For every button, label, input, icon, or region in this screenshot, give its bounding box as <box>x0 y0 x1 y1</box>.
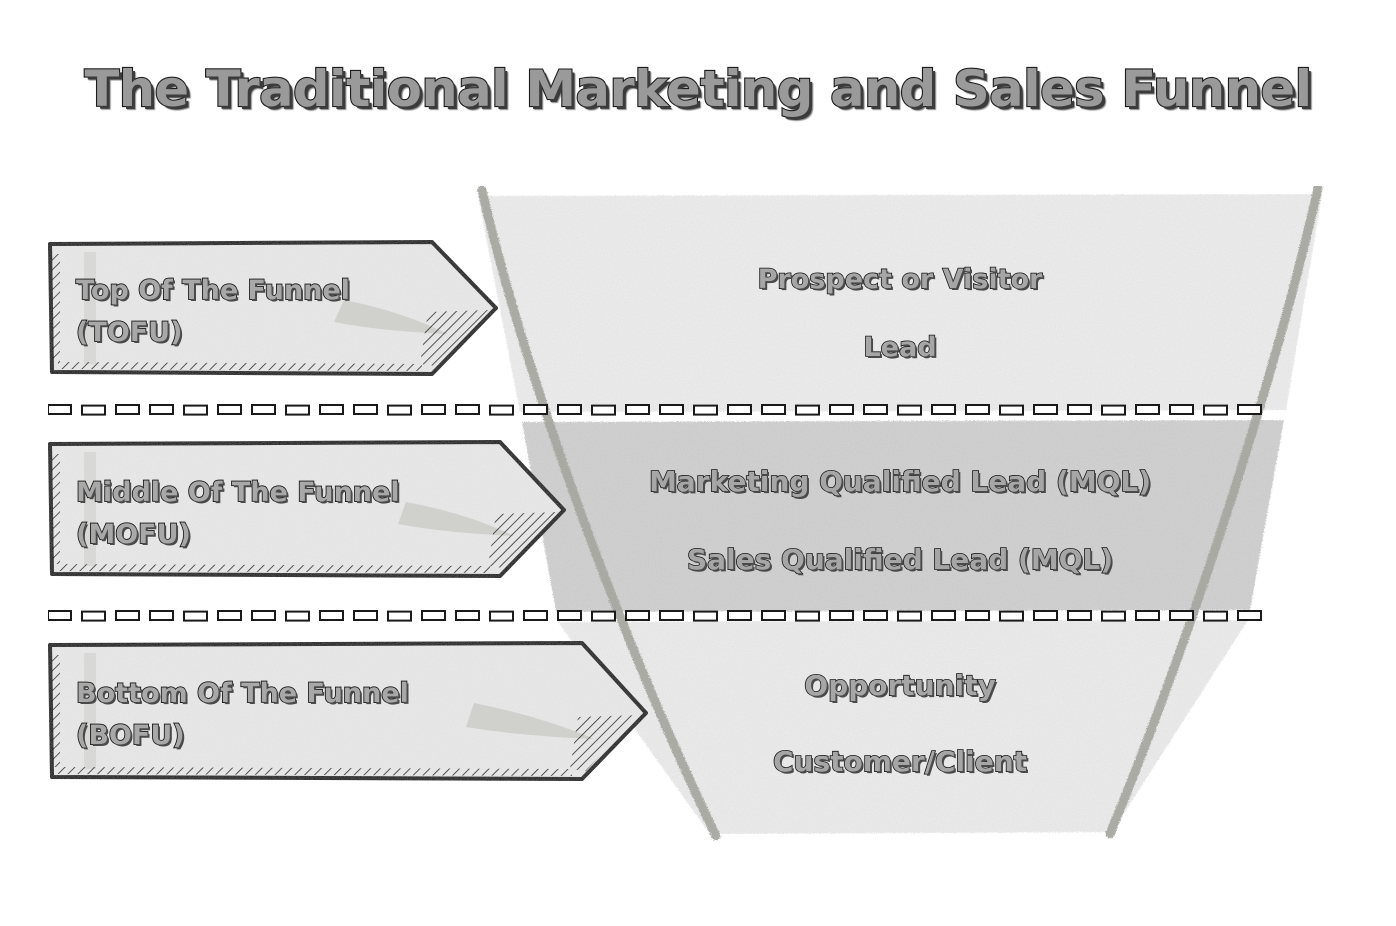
stage-banner-tofu-text: Top Of The Funnel (TOFU) <box>76 270 350 354</box>
divider-dash <box>490 406 513 415</box>
divider-dash <box>82 612 105 621</box>
divider-dash <box>1170 611 1193 620</box>
divider-dash <box>830 611 853 620</box>
funnel-label-marketing-qualified-lead: Marketing Qualified Lead (MQL) <box>460 465 1340 498</box>
divider-dash <box>966 611 989 620</box>
stage-banner-mofu[interactable]: Middle Of The Funnel (MOFU) <box>44 438 574 582</box>
funnel-label-prospect-or-visitor: Prospect or Visitor <box>460 264 1340 295</box>
stage-banner-mofu-line1: Middle Of The Funnel <box>76 472 400 514</box>
divider-dash <box>218 405 241 414</box>
funnel-label-sales-qualified-lead: Sales Qualified Lead (MQL) <box>460 543 1340 576</box>
divider-dash <box>864 611 887 620</box>
page-title: The Traditional Marketing and Sales Funn… <box>0 60 1396 118</box>
divider-dash <box>558 405 581 414</box>
divider-dash <box>932 405 955 414</box>
divider-dash <box>626 611 649 620</box>
divider-dash <box>898 406 921 415</box>
divider-dash <box>898 612 921 621</box>
funnel-label-lead: Lead <box>460 332 1340 363</box>
funnel-section-mofu <box>522 420 1284 612</box>
divider-dash <box>796 406 819 415</box>
divider-dashes-svg <box>48 404 1270 416</box>
divider-dash <box>1000 406 1023 415</box>
divider-dash <box>1102 406 1125 415</box>
divider-dash <box>660 611 683 620</box>
divider-dash <box>524 405 547 414</box>
divider-dash <box>354 405 377 414</box>
divider-dash <box>286 406 309 415</box>
divider-dash <box>150 611 173 620</box>
divider-dash <box>1034 611 1057 620</box>
stage-banner-bofu-line1: Bottom Of The Funnel <box>76 673 409 715</box>
divider-dash <box>694 406 717 415</box>
divider-dash <box>1170 405 1193 414</box>
divider-dash <box>320 405 343 414</box>
divider-dash <box>1238 611 1261 620</box>
divider-dash <box>1204 612 1227 621</box>
stage-banner-bofu-line2: (BOFU) <box>76 715 409 757</box>
stage-banner-tofu[interactable]: Top Of The Funnel (TOFU) <box>44 238 506 380</box>
divider-dash <box>286 612 309 621</box>
divider-dash <box>490 612 513 621</box>
divider-dash <box>116 405 139 414</box>
divider-dash <box>932 611 955 620</box>
divider-dash <box>1068 405 1091 414</box>
stage-banner-mofu-line2: (MOFU) <box>76 514 400 556</box>
divider-dash <box>762 611 785 620</box>
divider-dash <box>218 611 241 620</box>
divider-dash <box>354 611 377 620</box>
divider-dash <box>1204 406 1227 415</box>
divider-mofu-bofu <box>48 609 1270 621</box>
divider-dash <box>1238 405 1261 414</box>
divider-dash <box>456 405 479 414</box>
stage-banner-tofu-line2: (TOFU) <box>76 312 350 354</box>
funnel-section-tofu <box>478 194 1322 412</box>
divider-dash <box>524 611 547 620</box>
divider-dash <box>728 405 751 414</box>
divider-dash <box>252 611 275 620</box>
divider-dash <box>694 612 717 621</box>
divider-dash <box>558 611 581 620</box>
divider-dash <box>592 612 615 621</box>
divider-dash <box>320 611 343 620</box>
stage-banner-bofu-text: Bottom Of The Funnel (BOFU) <box>76 673 409 757</box>
stage-banner-mofu-text: Middle Of The Funnel (MOFU) <box>76 472 400 556</box>
divider-dash <box>1068 611 1091 620</box>
divider-dash <box>592 406 615 415</box>
divider-dash <box>150 405 173 414</box>
divider-dash <box>456 611 479 620</box>
funnel-diagram-canvas: The Traditional Marketing and Sales Funn… <box>0 0 1396 926</box>
divider-dash <box>762 405 785 414</box>
divider-dash <box>1034 405 1057 414</box>
divider-dash <box>388 406 411 415</box>
divider-dash <box>48 405 71 414</box>
divider-dash <box>1102 612 1125 621</box>
divider-dash <box>422 611 445 620</box>
divider-dash <box>660 405 683 414</box>
divider-dash <box>796 612 819 621</box>
stage-banner-tofu-line1: Top Of The Funnel <box>76 270 350 312</box>
divider-dash <box>388 612 411 621</box>
divider-dash <box>252 405 275 414</box>
divider-dash <box>966 405 989 414</box>
divider-dash <box>422 405 445 414</box>
divider-dash <box>830 405 853 414</box>
divider-dash <box>1136 405 1159 414</box>
divider-dash <box>82 406 105 415</box>
stage-banner-bofu[interactable]: Bottom Of The Funnel (BOFU) <box>44 639 656 785</box>
divider-dash <box>1136 611 1159 620</box>
divider-dash <box>626 405 649 414</box>
divider-dash <box>48 611 71 620</box>
divider-dash <box>184 612 207 621</box>
divider-tofu-mofu <box>48 403 1270 415</box>
divider-dashes-svg <box>48 610 1270 622</box>
divider-dash <box>728 611 751 620</box>
divider-dash <box>184 406 207 415</box>
divider-dash <box>116 611 139 620</box>
divider-dash <box>864 405 887 414</box>
divider-dash <box>1000 612 1023 621</box>
